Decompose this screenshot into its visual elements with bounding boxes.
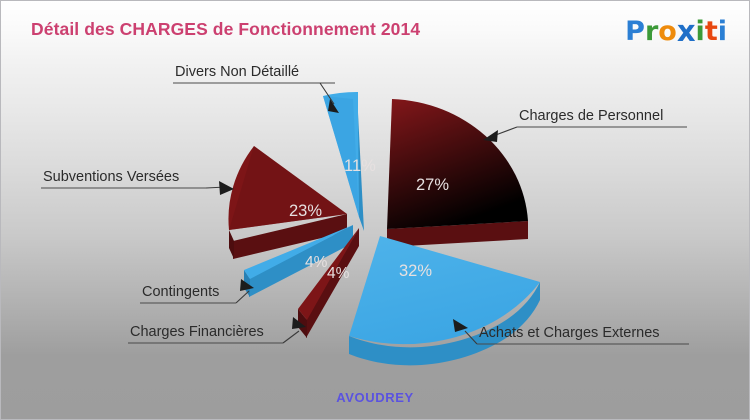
slice-top-personnel xyxy=(387,99,528,229)
callout-label-subventions: Subventions Versées xyxy=(43,169,179,185)
slice-value-contingents: 4% xyxy=(305,254,328,271)
callout-subventions[interactable]: Subventions Versées xyxy=(41,169,234,195)
callout-contingents[interactable]: Contingents xyxy=(140,279,254,303)
callout-label-achats: Achats et Charges Externes xyxy=(479,325,660,341)
callout-personnel[interactable]: Charges de Personnel xyxy=(483,108,687,142)
slice-value-divers: 11% xyxy=(344,157,376,175)
callout-divers[interactable]: Divers Non Détaillé xyxy=(173,64,339,113)
pie-chart: 27% 32% 4% 4% 23% 11% Divers Non Détaill… xyxy=(1,1,750,420)
chart-caption: AVOUDREY xyxy=(1,390,749,405)
callout-financieres[interactable]: Charges Financières xyxy=(128,317,306,343)
callout-label-contingents: Contingents xyxy=(142,284,219,300)
slice-value-subventions: 23% xyxy=(289,202,322,220)
slice-value-achats: 32% xyxy=(399,262,432,280)
pie-3d-tops xyxy=(228,92,540,344)
callout-label-divers: Divers Non Détaillé xyxy=(175,64,299,80)
slice-value-personnel: 27% xyxy=(416,176,449,194)
chart-card: Détail des CHARGES de Fonctionnement 201… xyxy=(0,0,750,420)
slice-side-subventions-edge xyxy=(229,230,234,259)
callout-label-personnel: Charges de Personnel xyxy=(519,108,663,124)
callout-label-financieres: Charges Financières xyxy=(130,324,264,340)
slice-value-financieres: 4% xyxy=(327,265,350,282)
